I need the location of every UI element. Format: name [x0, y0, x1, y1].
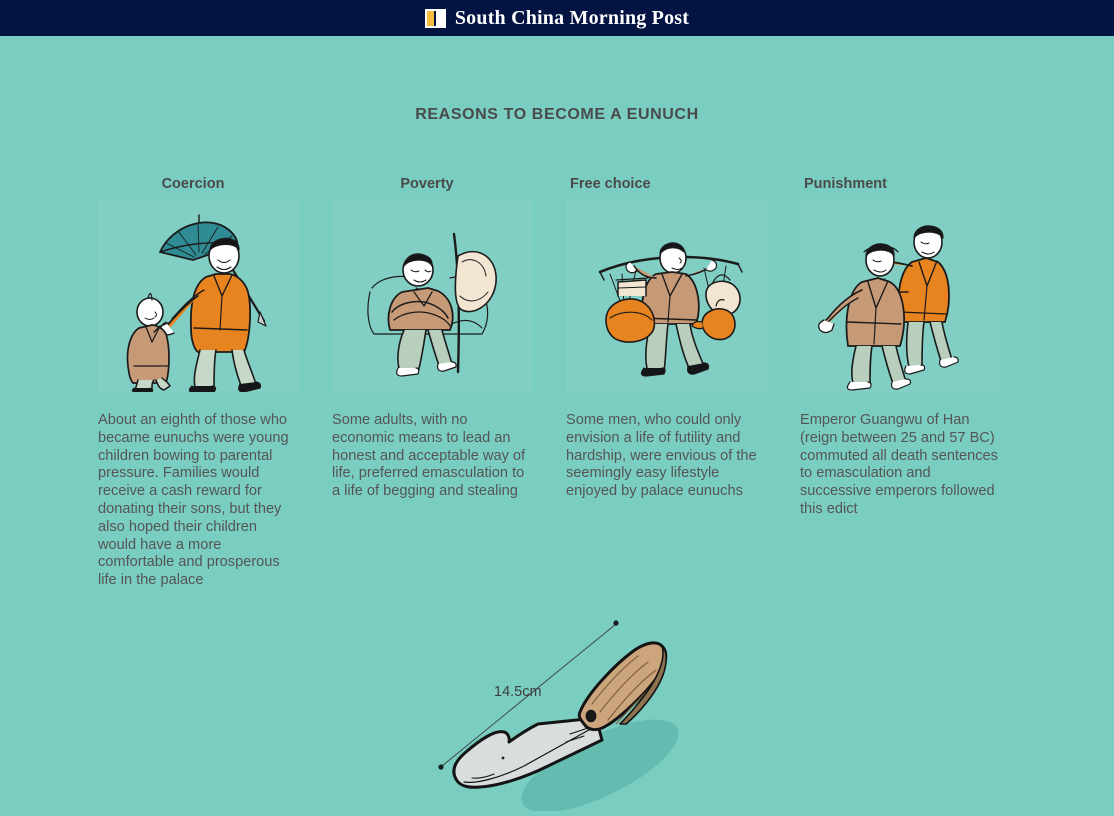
infographic-page: South China Morning Post REASONS TO BECO… [0, 0, 1114, 816]
reason-body: About an eighth of those who became eunu… [98, 412, 299, 590]
page-title: REASONS TO BECOME A EUNUCH [0, 106, 1114, 124]
scmp-logo-icon [425, 9, 446, 28]
masthead: South China Morning Post [0, 0, 1114, 36]
illustration-guard-in-orange-restraining-prisoner [800, 200, 1001, 392]
reason-column-coercion: Coercion [98, 176, 332, 590]
reasons-grid: Coercion [98, 176, 1034, 590]
reason-column-free-choice: Free choice [566, 176, 800, 590]
reason-column-poverty: Poverty [332, 176, 566, 590]
knife-illustration-block: 14.5cm [420, 606, 710, 811]
reason-title: Poverty [332, 176, 566, 200]
reason-title: Coercion [98, 176, 332, 200]
brand-name[interactable]: South China Morning Post [455, 7, 689, 30]
knife-measure-label: 14.5cm [494, 684, 542, 700]
illustration-man-carrying-shoulder-pole-with-vessels [566, 200, 767, 392]
reason-body: Emperor Guangwu of Han (reign between 25… [800, 412, 1001, 519]
reason-column-punishment: Punishment [800, 176, 1034, 590]
reason-body: Some men, who could only envision a life… [566, 412, 767, 501]
illustration-man-with-parasol-leading-child [98, 200, 299, 392]
illustration-seated-man-with-staff-and-bundle [332, 200, 533, 392]
reason-title: Punishment [800, 176, 1034, 200]
reason-title: Free choice [566, 176, 800, 200]
reason-body: Some adults, with no economic means to l… [332, 412, 533, 501]
